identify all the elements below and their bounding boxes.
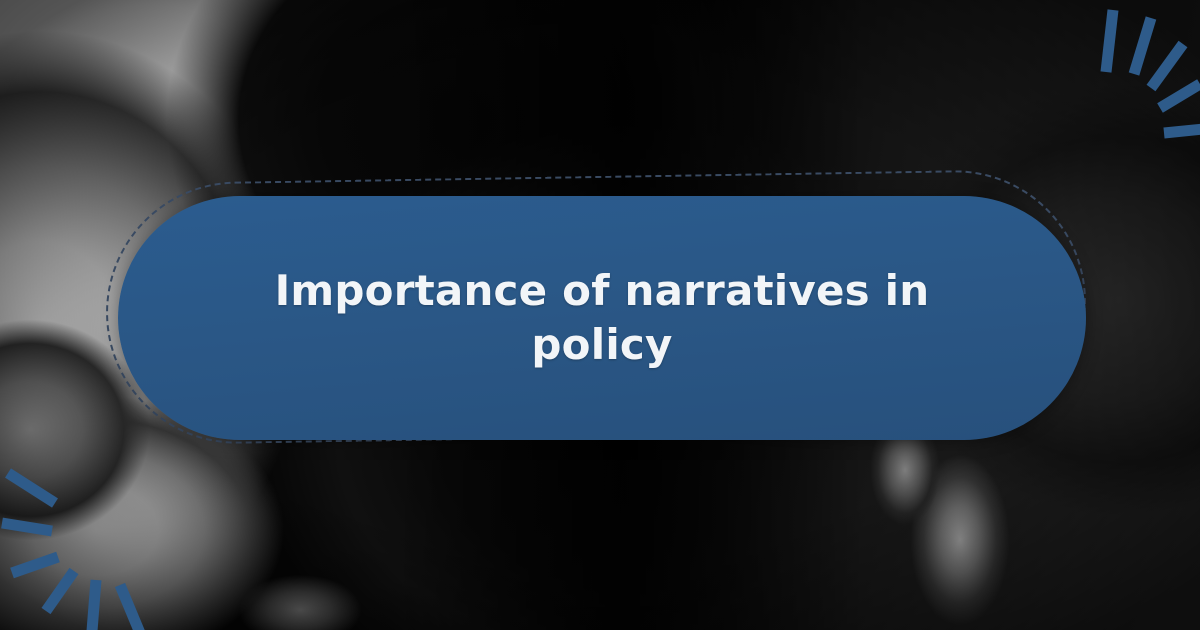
headline-pill: Importance of narratives in policy bbox=[118, 196, 1086, 440]
social-card: Importance of narratives in policy bbox=[0, 0, 1200, 630]
page-title: Importance of narratives in policy bbox=[222, 264, 982, 372]
starburst-rays-bottom-left-icon bbox=[0, 445, 200, 630]
starburst-rays-top-right-icon bbox=[1020, 0, 1200, 170]
